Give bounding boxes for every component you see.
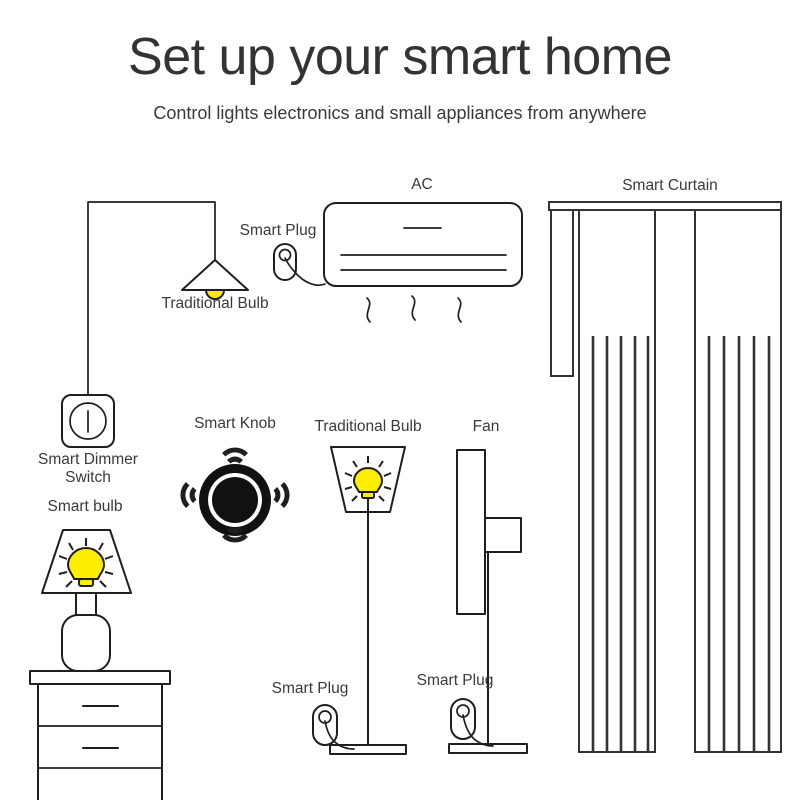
ac-airflow-2 <box>412 296 415 320</box>
fan-icon <box>457 450 485 614</box>
floor-lamp-plug-label: Smart Plug <box>272 680 349 697</box>
dimmer-switch-label-line1: Smart Dimmer <box>38 451 138 468</box>
fan-motor-housing <box>485 518 521 552</box>
smart-dimmer-switch-group[interactable]: Smart Dimmer Switch <box>38 395 138 486</box>
dimmer-switch-label-line2: Switch <box>65 469 111 486</box>
table-lamp-bulb-icon <box>68 548 104 579</box>
curtain-rail <box>549 202 781 210</box>
smart-curtain-label: Smart Curtain <box>622 177 718 194</box>
diagram-stage: Traditional Bulb Smart Dimmer Switch Sma… <box>0 150 800 800</box>
air-conditioner-group[interactable]: AC <box>324 176 522 322</box>
fan-smart-plug-group[interactable]: Smart Plug <box>417 672 494 746</box>
ac-smart-plug-label: Smart Plug <box>240 222 317 239</box>
smart-knob-signal-right <box>274 482 290 508</box>
curtain-panel-left <box>579 210 655 752</box>
nightstand-group[interactable] <box>30 671 170 800</box>
ac-airflow-1 <box>367 298 370 322</box>
table-lamp-group[interactable]: Smart bulb <box>42 498 131 671</box>
page-header: Set up your smart home Control lights el… <box>0 0 800 124</box>
table-lamp-label: Smart bulb <box>48 498 123 515</box>
page-subtitle: Control lights electronics and small app… <box>0 85 800 124</box>
smart-knob-signal-left <box>180 482 196 508</box>
floor-lamp-label: Traditional Bulb <box>314 418 421 435</box>
fan-plug-label: Smart Plug <box>417 672 494 689</box>
ac-airflow-3 <box>458 298 461 322</box>
nightstand-body <box>38 684 162 800</box>
table-lamp-neck <box>76 593 96 615</box>
smart-knob-group[interactable]: Smart Knob <box>180 415 289 542</box>
smart-knob-label: Smart Knob <box>194 415 276 432</box>
floor-lamp-bulb-icon <box>354 468 382 492</box>
floor-lamp-group[interactable]: Traditional Bulb <box>314 418 421 754</box>
fan-label: Fan <box>473 418 500 435</box>
nightstand-top <box>30 671 170 684</box>
ac-smart-plug-group[interactable]: Smart Plug <box>240 222 325 285</box>
smart-knob-signal-top <box>222 447 248 463</box>
pendant-lamp-label: Traditional Bulb <box>161 295 268 312</box>
air-conditioner-icon <box>324 203 522 286</box>
floor-lamp-smart-plug-group[interactable]: Smart Plug <box>272 680 354 749</box>
ac-label: AC <box>411 176 433 193</box>
table-lamp-bulb-base <box>79 579 93 586</box>
smart-knob-center <box>212 477 258 523</box>
page-title: Set up your smart home <box>0 0 800 85</box>
pendant-lamp-icon <box>182 260 248 290</box>
smart-curtain-group[interactable]: Smart Curtain <box>549 177 781 752</box>
curtain-motor-box <box>551 210 573 376</box>
table-lamp-body <box>62 615 110 671</box>
smart-home-diagram-page: Set up your smart home Control lights el… <box>0 0 800 800</box>
